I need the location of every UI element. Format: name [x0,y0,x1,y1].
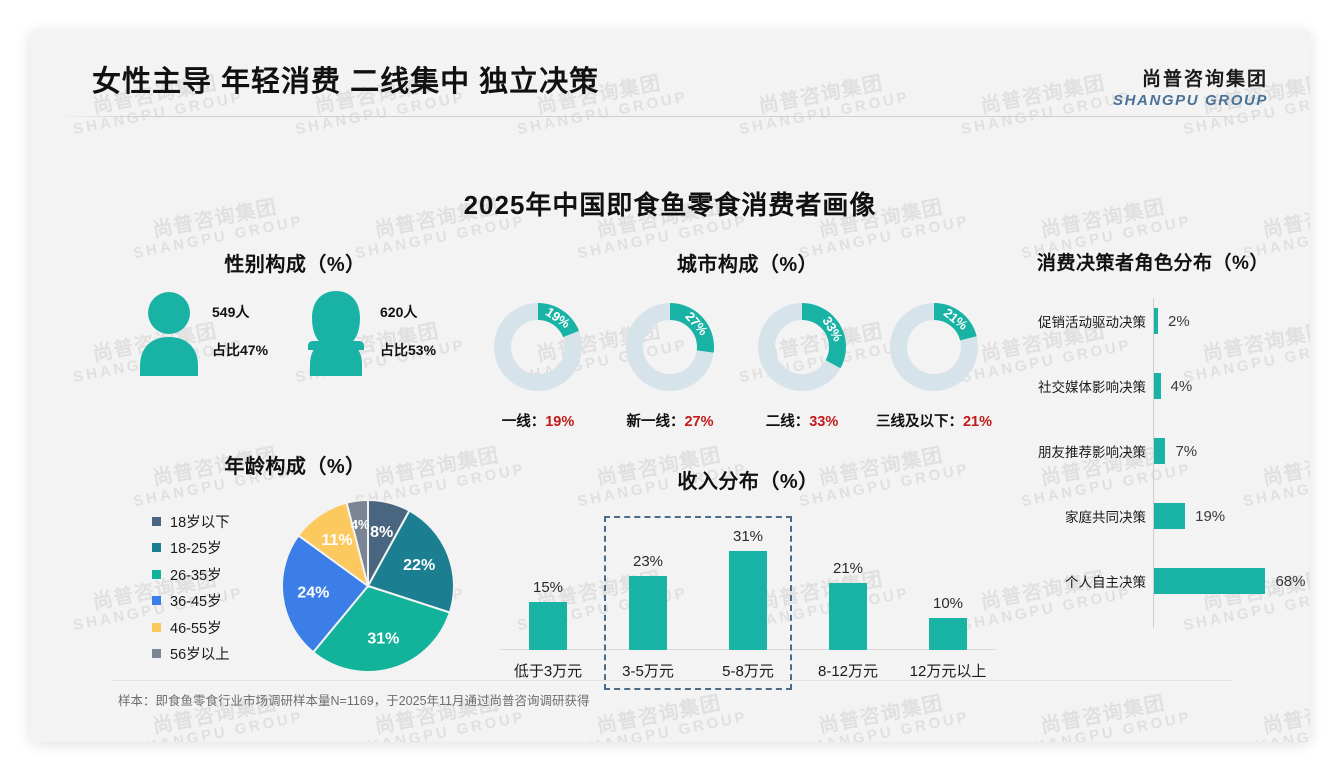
decision-value: 19% [1195,508,1225,525]
sample-note: 样本：即食鱼零食行业市场调研样本量N=1169，于2025年11月通过尚普咨询调… [118,690,590,709]
decision-bar-row: 家庭共同决策19% [1008,503,1298,529]
donut-svg: 19% [483,292,593,402]
decision-category: 社交媒体影响决策 [1038,376,1146,396]
city-donut-4: 21%三线及以下：21% [879,292,989,407]
income-bar [929,618,967,650]
decision-title: 消费决策者角色分布（%） [1008,248,1298,275]
gender-title: 性别构成（%） [130,248,460,277]
watermark: 尚普咨询集团SHANGPU GROUP [1016,689,1193,742]
donut-svg: 21% [879,292,989,402]
brand-logo: 尚普咨询集团 SHANGPU GROUP [1113,64,1268,109]
legend-swatch-icon [152,596,161,605]
income-value: 23% [633,553,663,570]
income-category: 3-5万元 [622,660,674,681]
decision-bar-row: 朋友推荐影响决策7% [1008,438,1298,464]
income-bar [829,583,867,650]
decision-section: 消费决策者角色分布（%） 促销活动驱动决策2%社交媒体影响决策4%朋友推荐影响决… [1008,248,1298,648]
logo-english: SHANGPU GROUP [1113,92,1268,109]
income-bar-column: 21%8-12万元 [798,513,898,693]
legend-label: 56岁以上 [170,643,230,664]
income-value: 15% [533,579,563,596]
age-legend-item: 26-35岁 [152,561,230,588]
pie-slice-label: 8% [370,524,393,541]
age-legend-item: 18岁以下 [152,508,230,535]
decision-bar-row: 个人自主决策68% [1008,568,1298,594]
age-pie-chart: 8%22%31%24%11%4% [280,498,456,679]
city-donut-caption: 一线：19% [502,410,575,431]
income-category: 12万元以上 [910,660,987,681]
legend-label: 26-35岁 [170,564,222,585]
watermark: 尚普咨询集团SHANGPU GROUP [1238,689,1310,742]
age-legend: 18岁以下18-25岁26-35岁36-45岁46-55岁56岁以上 [152,508,230,667]
decision-bar [1154,503,1185,529]
legend-swatch-icon [152,570,161,579]
income-category: 低于3万元 [514,660,582,681]
header-divider [58,116,1280,117]
decision-bar [1154,373,1161,399]
income-bar [629,576,667,650]
city-value: 21% [963,414,992,430]
pie-slice-label: 31% [367,630,399,647]
age-legend-item: 36-45岁 [152,588,230,615]
city-donut-caption: 新一线：27% [626,410,713,431]
male-icon [138,290,200,381]
income-value: 31% [733,528,763,545]
city-donut-caption: 三线及以下：21% [876,410,992,431]
age-title: 年龄构成（%） [130,450,460,479]
decision-category: 朋友推荐影响决策 [1038,441,1146,461]
decision-value: 4% [1171,378,1193,395]
city-donut-caption: 二线：33% [766,410,839,431]
city-value: 33% [809,414,838,430]
legend-label: 36-45岁 [170,590,222,611]
pie-slice-label: 4% [351,517,370,532]
decision-value: 2% [1168,313,1190,330]
slide-card: 尚普咨询集团SHANGPU GROUP尚普咨询集团SHANGPU GROUP尚普… [30,30,1310,742]
decision-bar [1154,438,1165,464]
income-bar [729,551,767,650]
male-count: 549人 [212,302,249,322]
header: 女性主导 年轻消费 二线集中 独立决策 尚普咨询集团 SHANGPU GROUP [30,30,1310,112]
legend-swatch-icon [152,623,161,632]
age-legend-item: 56岁以上 [152,641,230,668]
city-donut-3: 33%二线：33% [747,292,857,407]
decision-category: 个人自主决策 [1065,571,1146,591]
legend-swatch-icon [152,517,161,526]
headline: 女性主导 年轻消费 二线集中 独立决策 [92,58,599,100]
decision-bar [1154,308,1158,334]
legend-label: 18-25岁 [170,537,222,558]
decision-bar [1154,568,1265,594]
income-plot: 15%低于3万元23%3-5万元31%5-8万元21%8-12万元10%12万元… [492,513,1004,693]
income-bar-column: 23%3-5万元 [598,513,698,693]
page-title: 2025年中国即食鱼零食消费者画像 [30,185,1310,222]
city-value: 19% [545,414,574,430]
decision-value: 68% [1275,573,1305,590]
income-bar-column: 10%12万元以上 [898,513,998,693]
city-label: 一线： [502,414,546,430]
age-legend-item: 46-55岁 [152,614,230,641]
pie-slice-label: 11% [321,532,352,549]
income-category: 8-12万元 [818,660,878,681]
decision-bar-row: 社交媒体影响决策4% [1008,373,1298,399]
female-share: 占比53% [380,340,436,360]
female-count: 620人 [380,302,417,322]
city-label: 新一线： [626,414,684,430]
note-divider [112,680,1232,681]
income-section: 收入分布（%） 15%低于3万元23%3-5万元31%5-8万元21%8-12万… [492,465,1004,690]
income-bar-column: 31%5-8万元 [698,513,798,693]
city-donut-2: 27%新一线：27% [615,292,725,407]
logo-chinese: 尚普咨询集团 [1113,64,1268,91]
gender-section: 性别构成（%） 549人 占比47% 620人 占比53% [130,248,460,398]
legend-label: 18岁以下 [170,511,230,532]
age-legend-item: 18-25岁 [152,535,230,562]
income-value: 21% [833,560,863,577]
male-share: 占比47% [212,340,268,360]
watermark: 尚普咨询集团SHANGPU GROUP [794,689,971,742]
decision-category: 家庭共同决策 [1065,506,1146,526]
pie-slice-label: 24% [297,584,329,601]
legend-label: 46-55岁 [170,617,222,638]
income-bar-column: 15%低于3万元 [498,513,598,693]
donut-svg: 27% [615,292,725,402]
decision-category: 促销活动驱动决策 [1038,311,1146,331]
city-section: 城市构成（%） 19%一线：19%27%新一线：27%33%二线：33%21%三… [475,248,1020,408]
income-value: 10% [933,595,963,612]
income-title: 收入分布（%） [492,465,1004,494]
legend-swatch-icon [152,543,161,552]
infographic-page: 尚普咨询集团SHANGPU GROUP尚普咨询集团SHANGPU GROUP尚普… [0,0,1340,780]
city-title: 城市构成（%） [475,248,1020,277]
income-category: 5-8万元 [722,660,774,681]
decision-value: 7% [1175,443,1197,460]
city-label: 三线及以下： [876,414,963,430]
city-donut-1: 19%一线：19% [483,292,593,407]
city-label: 二线： [766,414,810,430]
watermark: 尚普咨询集团SHANGPU GROUP [572,689,749,742]
donut-svg: 33% [747,292,857,402]
income-bar [529,602,567,650]
legend-swatch-icon [152,649,161,658]
female-icon [302,290,370,381]
age-section: 年龄构成（%） 18岁以下18-25岁26-35岁36-45岁46-55岁56岁… [130,450,460,685]
decision-bar-row: 促销活动驱动决策2% [1008,308,1298,334]
city-value: 27% [684,414,713,430]
pie-slice-label: 22% [403,557,435,574]
